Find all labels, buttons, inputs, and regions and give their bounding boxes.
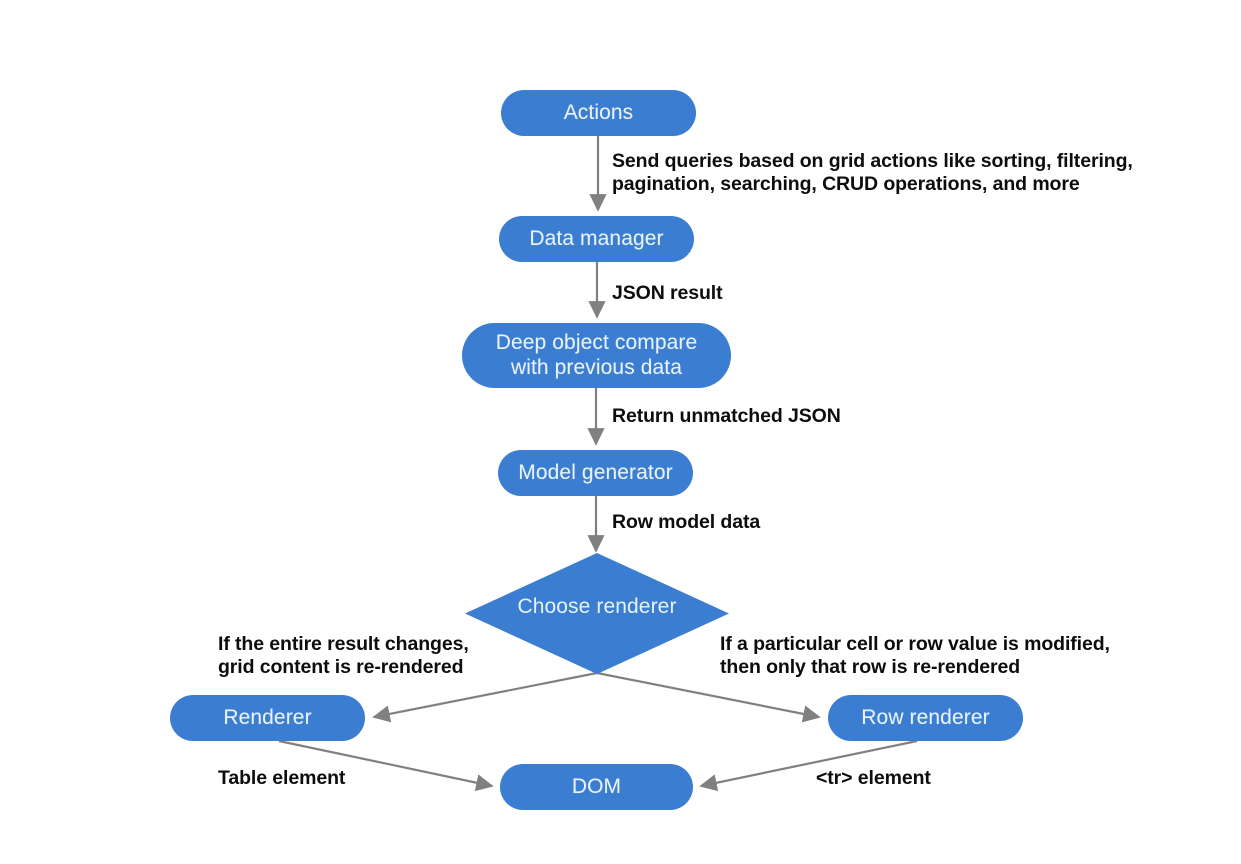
node-row-renderer-label: Row renderer <box>861 706 989 730</box>
edge-label-particular-cell-modified: If a particular cell or row value is mod… <box>720 633 1110 678</box>
node-model-generator[interactable]: Model generator <box>498 450 693 496</box>
flowchart-canvas: Actions Data manager Deep object compare… <box>0 0 1241 864</box>
edge-label-table-element: Table element <box>218 767 345 790</box>
edge-label-row-model-data: Row model data <box>612 511 760 534</box>
edge-label-json-result: JSON result <box>612 282 723 305</box>
node-actions[interactable]: Actions <box>501 90 696 136</box>
node-choose-renderer[interactable]: Choose renderer <box>465 553 729 674</box>
node-deep-object-compare[interactable]: Deep object compare with previous data <box>462 323 731 388</box>
connector-choose-renderer-to-row-renderer <box>597 673 819 717</box>
node-data-manager-label: Data manager <box>529 227 663 251</box>
connector-choose-renderer-to-renderer <box>374 673 597 717</box>
node-renderer-label: Renderer <box>223 706 311 730</box>
edge-label-send-queries: Send queries based on grid actions like … <box>612 150 1133 195</box>
node-dom[interactable]: DOM <box>500 764 693 810</box>
node-renderer[interactable]: Renderer <box>170 695 365 741</box>
node-model-generator-label: Model generator <box>518 461 672 485</box>
edge-label-return-unmatched-json: Return unmatched JSON <box>612 405 841 428</box>
node-dom-label: DOM <box>572 775 621 799</box>
edge-label-entire-result-changes: If the entire result changes, grid conte… <box>218 633 469 678</box>
node-choose-renderer-label: Choose renderer <box>517 595 676 619</box>
node-row-renderer[interactable]: Row renderer <box>828 695 1023 741</box>
node-data-manager[interactable]: Data manager <box>499 216 694 262</box>
node-deep-object-compare-label: Deep object compare with previous data <box>496 331 698 380</box>
node-actions-label: Actions <box>564 101 634 125</box>
edge-label-tr-element: <tr> element <box>816 767 931 790</box>
